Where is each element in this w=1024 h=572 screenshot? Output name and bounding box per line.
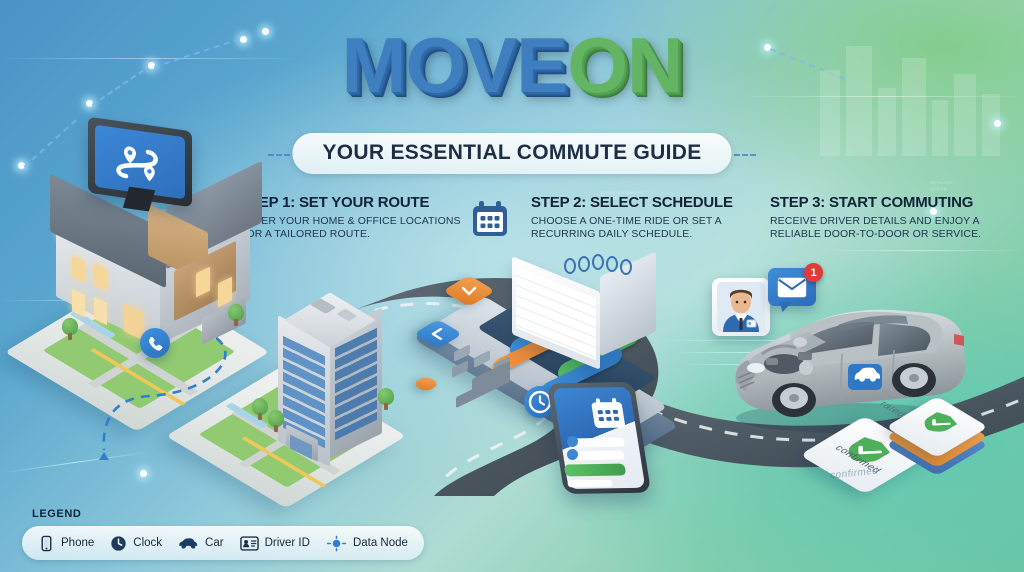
title-on: ON: [567, 21, 682, 109]
title-move: MOVE: [342, 21, 568, 109]
subtitle-banner: YOUR ESSENTIAL COMMUTE GUIDE: [292, 133, 731, 174]
page-title: MOVEON: [0, 22, 1024, 108]
calendar-icon: [469, 198, 511, 240]
legend-item-phone[interactable]: Phone: [38, 535, 94, 552]
confirm-button-phone[interactable]: [564, 464, 626, 477]
calendar-icon-phone: [587, 396, 629, 430]
tree: [378, 388, 394, 410]
legend-label-phone: Phone: [61, 537, 94, 549]
data-node-dot: [140, 470, 147, 477]
arrow-down-icon: [461, 285, 477, 297]
tree: [62, 318, 78, 340]
envelope-icon: [777, 277, 807, 298]
step-2-desc: CHOOSE A ONE-TIME RIDE OR SET A RECURRIN…: [531, 215, 761, 241]
subtitle-tick-right: [734, 154, 756, 156]
step-3-title: STEP 3: START COMMUTING: [770, 194, 1000, 211]
legend-bar: Phone Clock Car: [22, 526, 424, 560]
legend-item-driver-id[interactable]: Driver ID: [240, 535, 310, 552]
legend-label-car: Car: [205, 537, 224, 549]
tree: [268, 410, 284, 432]
data-node-icon: [326, 535, 347, 552]
legend-label-clock: Clock: [133, 537, 162, 549]
avatar: [717, 282, 765, 332]
infographic-canvas: COMMUTE DATA SYNCROUTE OPTIMIZEDLIVE TRA…: [0, 0, 1024, 572]
subtitle-tick-left: [268, 154, 290, 156]
legend-label-data-node: Data Node: [353, 537, 408, 549]
legend-item-clock[interactable]: Clock: [110, 535, 162, 552]
mail-badge-count: 1: [804, 263, 823, 282]
driver-id-icon: [240, 535, 259, 552]
legend-item-data-node[interactable]: Data Node: [326, 535, 408, 552]
legend-label-driver-id: Driver ID: [265, 537, 310, 549]
phone-icon: [38, 535, 55, 552]
legend-title: LEGEND: [32, 508, 81, 520]
step-2-title: STEP 2: SELECT SCHEDULE: [531, 194, 761, 211]
legend-item-car[interactable]: Car: [178, 535, 224, 552]
step-3-desc: RECEIVE DRIVER DETAILS AND ENJOY A RELIA…: [770, 215, 1000, 241]
arrow-left-icon: [430, 328, 446, 340]
data-node-dot: [18, 162, 25, 169]
clock-icon: [110, 535, 127, 552]
tree: [252, 398, 268, 420]
car-icon: [178, 535, 199, 552]
step-1-title: STEP 1: SET YOUR ROUTE: [240, 194, 470, 211]
tree: [228, 304, 244, 326]
step-2: STEP 2: SELECT SCHEDULE CHOOSE A ONE-TIM…: [531, 194, 761, 241]
step-3: STEP 3: START COMMUTING RECEIVE DRIVER D…: [770, 194, 1000, 241]
route-pins-icon: [110, 136, 170, 192]
data-node-dot: [994, 120, 1001, 127]
